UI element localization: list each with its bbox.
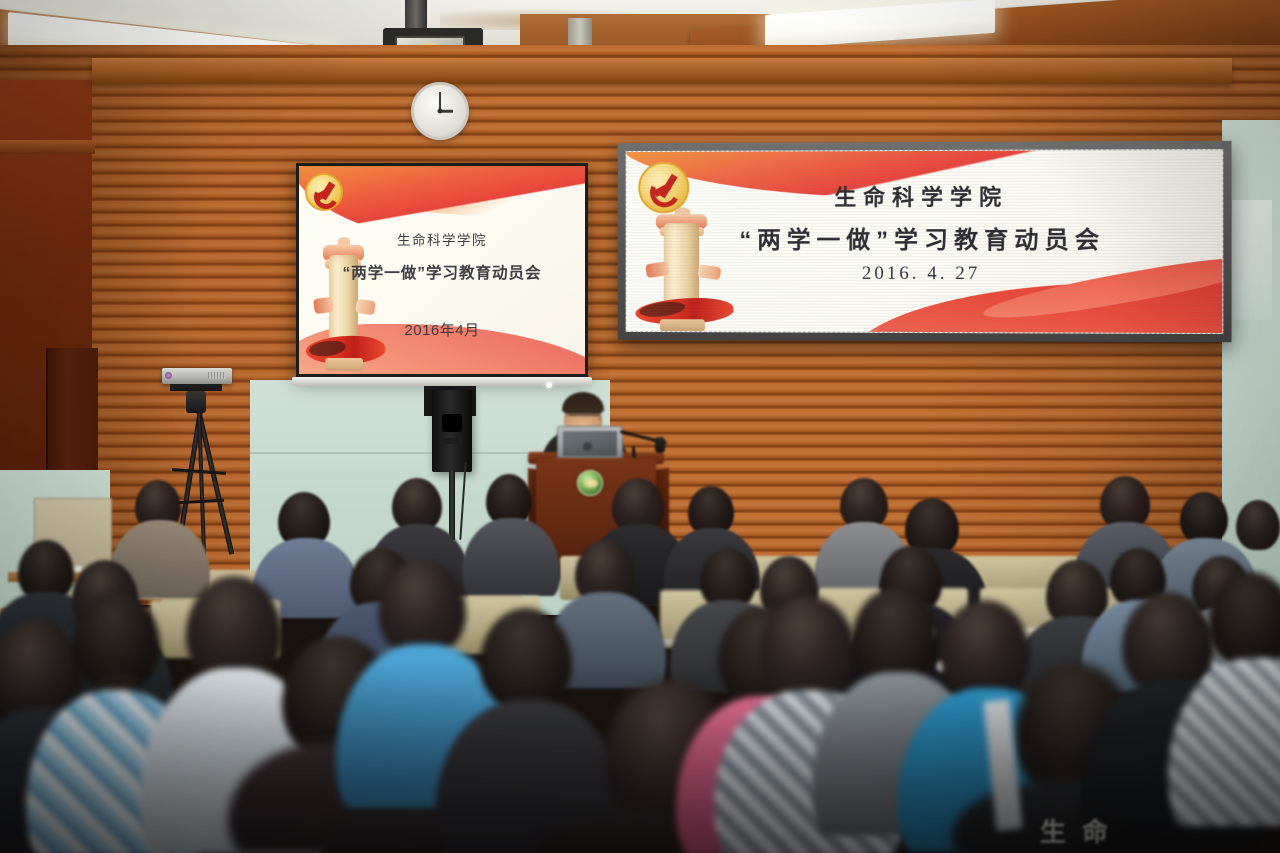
projector-icon — [162, 368, 232, 384]
slide-title-line2: “两学一做”学习教育动员会 — [299, 261, 585, 283]
pillar-arm-left — [313, 297, 334, 315]
audience-head — [1236, 500, 1280, 550]
tripod-mount-plate — [170, 384, 222, 391]
audience-head — [852, 588, 938, 684]
led-display: 生命科学学院 “两学一做”学习教育动员会 2016. 4. 27 — [618, 141, 1232, 342]
pillar-base — [325, 358, 362, 371]
wall-cornice — [92, 58, 1232, 84]
speaker-icon — [432, 390, 472, 472]
hammer-sickle-glyph — [312, 180, 335, 203]
led-display-surface: 生命科学学院 “两学一做”学习教育动员会 2016. 4. 27 — [626, 149, 1224, 334]
audience-head — [378, 560, 466, 656]
lecture-hall-photo: 生命科学学院 “两学一做”学习教育动员会 2016年4月 — [0, 0, 1280, 853]
led-date: 2016. 4. 27 — [627, 263, 1223, 286]
projector-vent — [208, 372, 226, 379]
slide-title-line1: 生命科学学院 — [299, 229, 585, 249]
pillar-base-led — [659, 319, 705, 331]
projection-screen: 生命科学学院 “两学一做”学习教育动员会 2016年4月 — [296, 163, 588, 377]
jacket-banner-text-left: 生命 — [140, 812, 224, 849]
microphone-icon — [655, 437, 665, 453]
speaker-stand — [449, 470, 455, 540]
university-emblem-icon — [577, 470, 603, 496]
clock-icon — [411, 82, 469, 140]
audience-head — [1180, 492, 1228, 544]
clock-center — [438, 109, 443, 114]
speaker-port — [442, 438, 462, 444]
jacket-banner-text: 生命 — [1040, 812, 1124, 849]
projection-screen-surface: 生命科学学院 “两学一做”学习教育动员会 2016年4月 — [299, 166, 585, 374]
slide-date: 2016年4月 — [299, 319, 585, 340]
party-emblem-icon — [305, 173, 343, 211]
tripod-head — [186, 391, 206, 413]
presenter-glasses — [568, 414, 599, 420]
pillar-arm-right — [356, 299, 376, 315]
led-title-line2: “两学一做”学习教育动员会 — [627, 220, 1223, 255]
wall-indicator-light — [546, 382, 552, 388]
speaker-driver — [442, 414, 462, 432]
laptop-logo — [583, 442, 592, 451]
wall-cornice-left — [0, 140, 95, 154]
led-title-line1: 生命科学学院 — [627, 179, 1223, 212]
projector-lens — [165, 372, 172, 379]
glass-panel-right — [1232, 200, 1272, 320]
monument-pillar-illustration — [313, 240, 375, 366]
hammer-glyph — [316, 189, 330, 201]
